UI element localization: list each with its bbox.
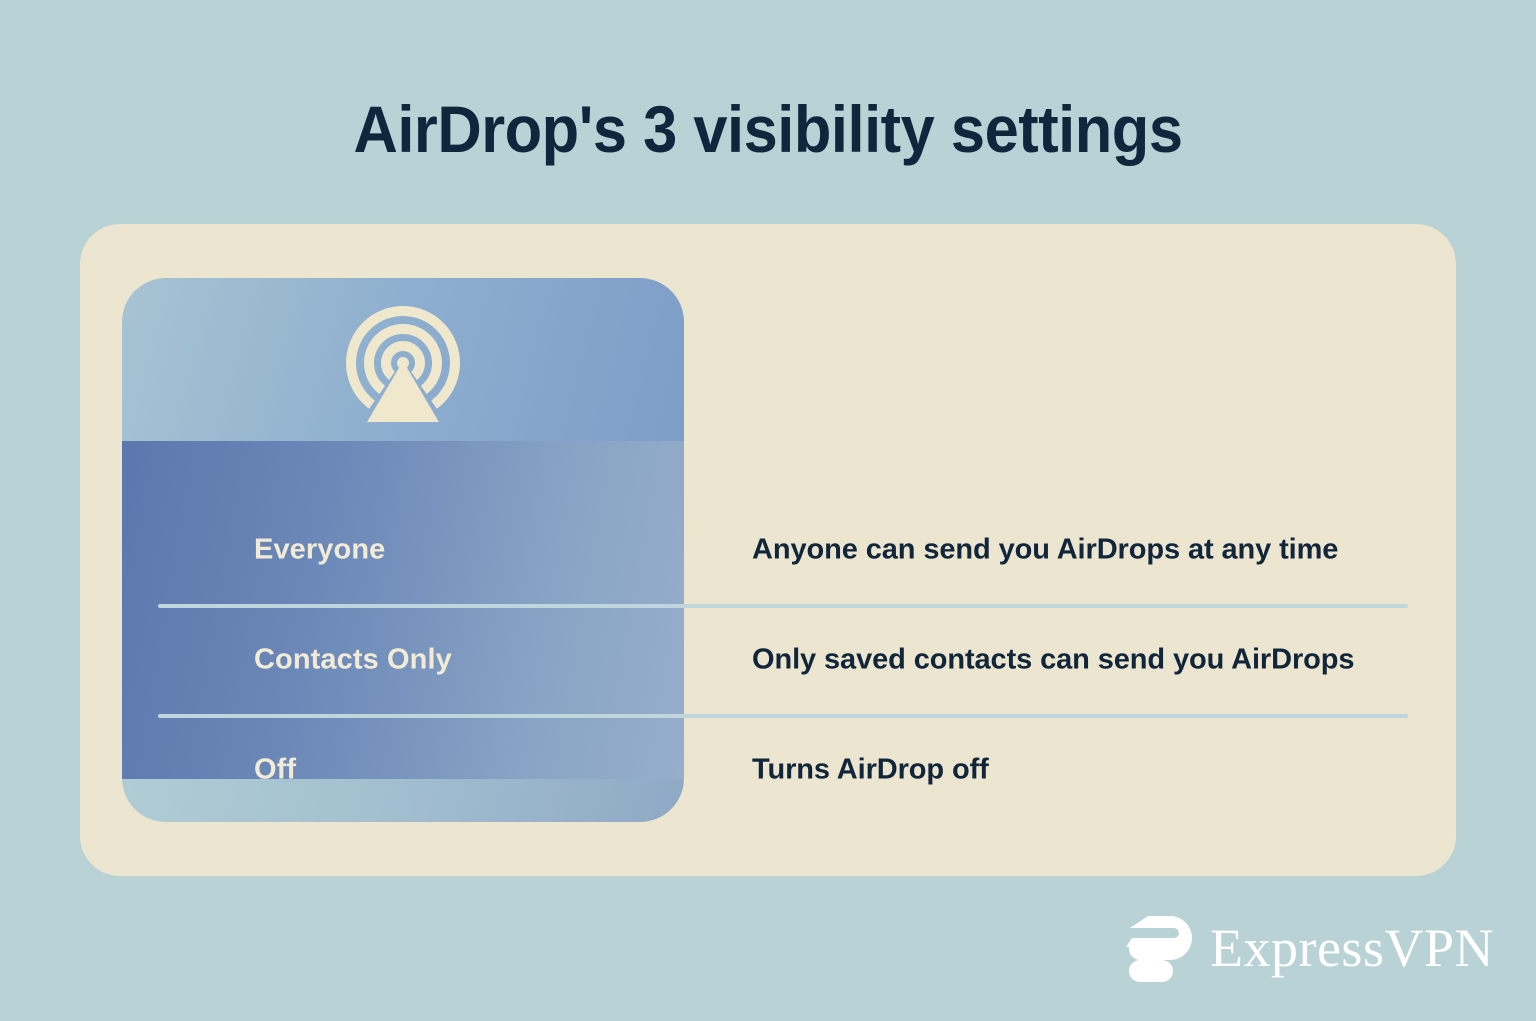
brand-logo: ExpressVPN	[1118, 912, 1494, 984]
expressvpn-logo-mark	[1118, 912, 1194, 984]
page-title: AirDrop's 3 visibility settings	[54, 92, 1482, 166]
setting-label: Everyone	[254, 534, 385, 567]
setting-label: Off	[254, 754, 296, 787]
setting-row-contacts-only[interactable]: Contacts Only Only saved contacts can se…	[80, 605, 1456, 715]
setting-label: Contacts Only	[254, 644, 452, 677]
setting-description: Only saved contacts can send you AirDrop…	[752, 644, 1354, 677]
brand-wordmark: ExpressVPN	[1210, 921, 1494, 975]
setting-description: Anyone can send you AirDrops at any time	[752, 534, 1338, 567]
settings-rows: Everyone Anyone can send you AirDrops at…	[80, 278, 1456, 822]
setting-row-off[interactable]: Off Turns AirDrop off	[80, 715, 1456, 825]
setting-description: Turns AirDrop off	[752, 754, 989, 787]
setting-row-everyone[interactable]: Everyone Anyone can send you AirDrops at…	[80, 495, 1456, 605]
content-card: Everyone Anyone can send you AirDrops at…	[80, 224, 1456, 876]
